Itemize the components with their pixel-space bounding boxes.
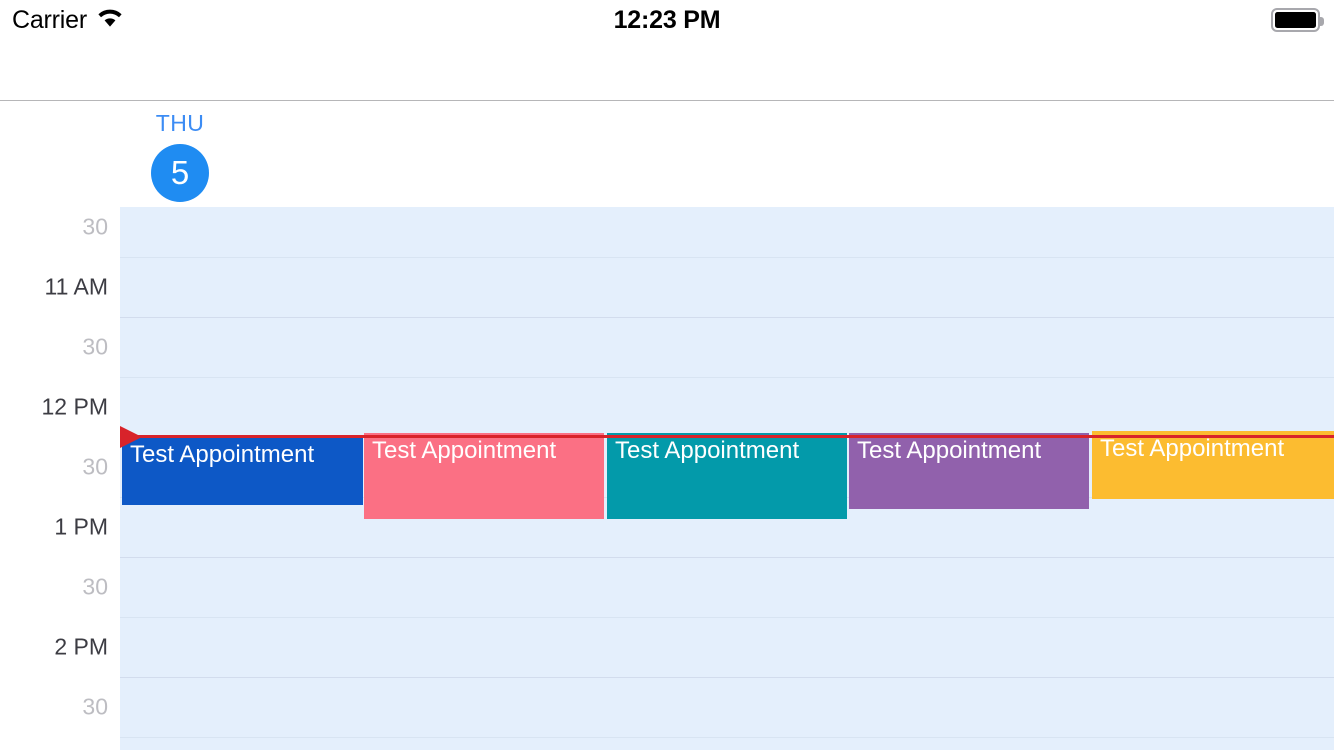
day-timeline[interactable]: 3011 AM3012 PM301 PM302 PM30 Test Appoin… xyxy=(0,207,1334,750)
status-bar-clock: 12:23 PM xyxy=(614,8,721,33)
status-bar-right xyxy=(1271,0,1320,40)
calendar-event[interactable]: Test Appointment xyxy=(607,433,847,519)
current-time-line xyxy=(120,435,1334,438)
calendar-event[interactable]: Test Appointment xyxy=(849,433,1089,509)
time-label-1: 11 AM xyxy=(45,276,109,299)
battery-full-icon xyxy=(1271,8,1320,32)
grid-line-7 xyxy=(120,677,1334,678)
day-weekday-label: THU xyxy=(156,112,204,135)
calendar-event[interactable]: Test Appointment xyxy=(1092,431,1334,499)
battery-fill xyxy=(1275,12,1316,28)
time-gutter: 3011 AM3012 PM301 PM302 PM30 xyxy=(0,207,120,750)
grid-line-2 xyxy=(120,377,1334,378)
navigation-bar xyxy=(0,40,1334,101)
calendar-event[interactable]: Test Appointment xyxy=(364,433,604,519)
calendar-event-title: Test Appointment xyxy=(1100,436,1330,462)
day-header: THU 5 xyxy=(0,102,1334,207)
day-number-label: 5 xyxy=(171,156,189,189)
calendar-event-title: Test Appointment xyxy=(130,442,359,468)
time-label-4: 30 xyxy=(82,456,108,479)
status-bar-center: 12:23 PM xyxy=(0,0,1334,40)
time-label-5: 1 PM xyxy=(54,516,108,539)
time-label-0: 30 xyxy=(82,216,108,239)
time-label-6: 30 xyxy=(82,576,108,599)
status-bar: Carrier 12:23 PM xyxy=(0,0,1334,40)
grid-line-6 xyxy=(120,617,1334,618)
app-screen: Carrier 12:23 PM THU 5 xyxy=(0,0,1334,750)
calendar-event-title: Test Appointment xyxy=(857,438,1085,464)
grid-line-0 xyxy=(120,257,1334,258)
time-label-3: 12 PM xyxy=(42,396,108,419)
time-label-8: 30 xyxy=(82,696,108,719)
time-label-7: 2 PM xyxy=(54,636,108,659)
calendar-event[interactable]: Test Appointment xyxy=(122,437,363,505)
calendar-event-title: Test Appointment xyxy=(615,438,843,464)
grid-line-5 xyxy=(120,557,1334,558)
day-header-thursday[interactable]: THU 5 xyxy=(120,102,240,202)
calendar-event-title: Test Appointment xyxy=(372,438,600,464)
grid-line-1 xyxy=(120,317,1334,318)
current-time-triangle-icon xyxy=(120,426,142,448)
day-number-badge[interactable]: 5 xyxy=(151,144,209,202)
time-label-2: 30 xyxy=(82,336,108,359)
grid-line-8 xyxy=(120,737,1334,738)
